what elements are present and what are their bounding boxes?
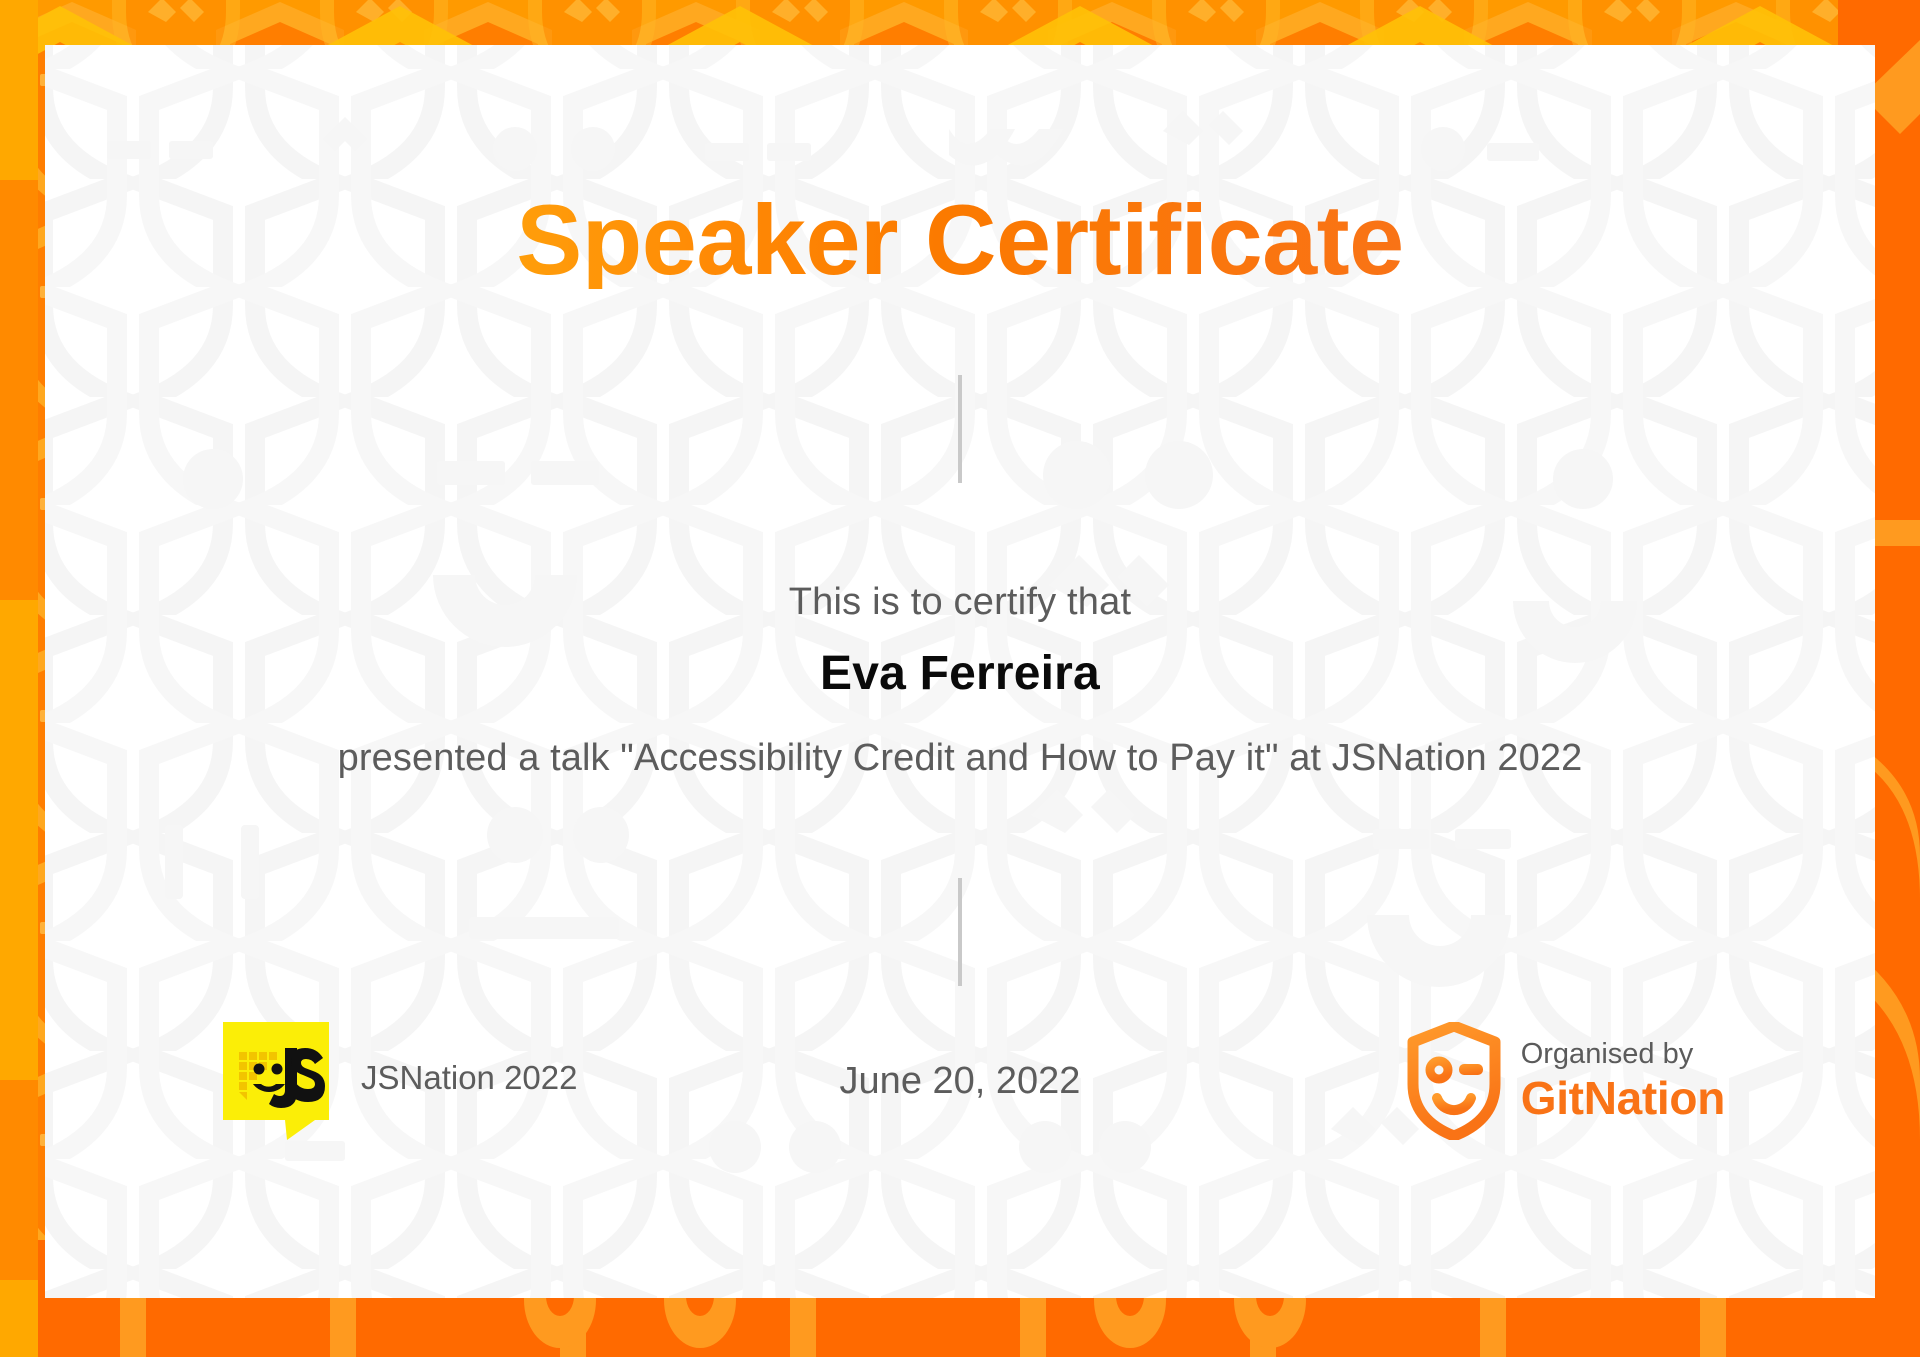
talk-description: presented a talk "Accessibility Credit a… — [338, 737, 1583, 780]
organiser-name: GitNation — [1521, 1073, 1725, 1124]
divider-bottom — [958, 878, 962, 986]
page-title: Speaker Certificate — [516, 190, 1403, 289]
certify-statement: This is to certify that — [789, 581, 1131, 624]
certificate-footer: JSNation 2022 June 20, 2022 — [45, 1016, 1875, 1146]
certificate-page: Speaker Certificate This is to certify t… — [0, 0, 1920, 1357]
organised-by-label: Organised by — [1521, 1038, 1725, 1071]
certificate-card: Speaker Certificate This is to certify t… — [45, 45, 1875, 1298]
divider-top — [958, 375, 962, 483]
gitnation-shield-icon — [1407, 1022, 1501, 1140]
recipient-name: Eva Ferreira — [820, 646, 1100, 701]
footer-organiser-block: Organised by GitNation — [1407, 1022, 1725, 1140]
